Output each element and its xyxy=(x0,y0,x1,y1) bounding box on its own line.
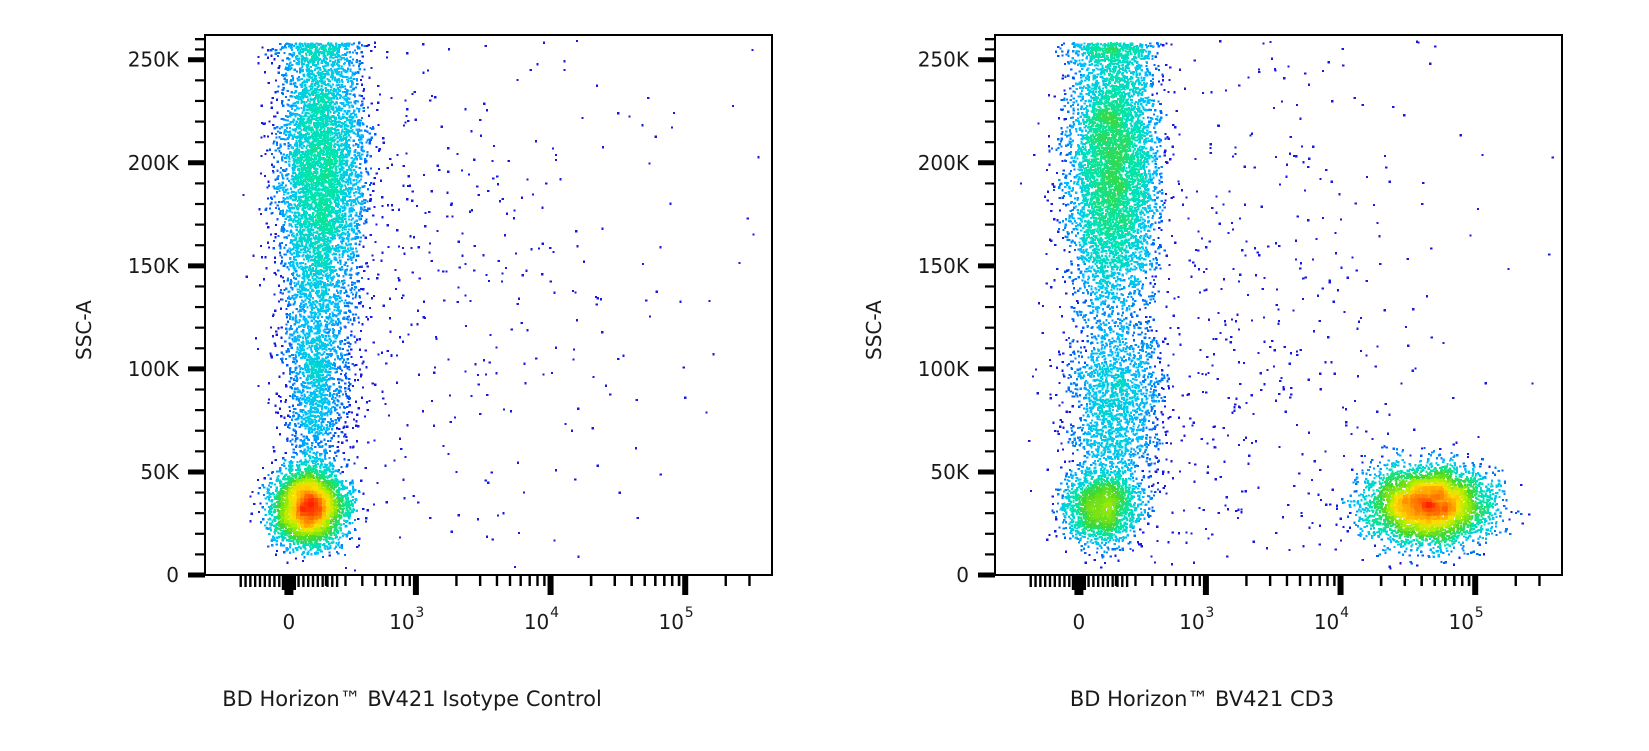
y-tick-label: 0 xyxy=(166,563,179,587)
x-axis: 0103104105 xyxy=(1031,575,1540,634)
x-tick-label: 10 xyxy=(524,610,549,634)
x-tick-label-exponent: 5 xyxy=(1475,605,1484,621)
x-tick-label-exponent: 4 xyxy=(550,605,559,621)
x-tick-label: 10 xyxy=(1448,610,1473,634)
x-tick-label: 10 xyxy=(1314,610,1339,634)
x-tick-label: 10 xyxy=(389,610,414,634)
y-axis: 050K100K150K200K250K xyxy=(918,39,995,587)
plot-panel-cd3: 050K100K150K200K250K0103104105 SSC-A BD … xyxy=(790,0,1614,751)
y-tick-label: 250K xyxy=(128,48,180,72)
x-tick-label-exponent: 3 xyxy=(1205,605,1214,621)
y-tick-label: 150K xyxy=(128,254,180,278)
y-axis: 050K100K150K200K250K xyxy=(128,39,205,587)
x-tick-label: 10 xyxy=(1179,610,1204,634)
x-tick-label-exponent: 3 xyxy=(415,605,424,621)
x-tick-label: 10 xyxy=(658,610,683,634)
flow-cytometry-figure: 050K100K150K200K250K0103104105 SSC-A BD … xyxy=(0,0,1649,751)
x-axis-title-right: BD Horizon™ BV421 CD3 xyxy=(790,687,1614,711)
y-tick-label: 0 xyxy=(956,563,969,587)
plot-panel-isotype-control: 050K100K150K200K250K0103104105 SSC-A BD … xyxy=(0,0,824,751)
y-tick-label: 100K xyxy=(128,357,180,381)
y-tick-label: 100K xyxy=(918,357,970,381)
x-tick-label-exponent: 5 xyxy=(685,605,694,621)
x-tick-label: 0 xyxy=(1073,610,1086,634)
y-tick-label: 50K xyxy=(930,460,969,484)
y-tick-label: 150K xyxy=(918,254,970,278)
x-axis: 0103104105 xyxy=(241,575,750,634)
x-tick-label-exponent: 4 xyxy=(1340,605,1349,621)
y-axis-title-left: SSC-A xyxy=(72,300,96,360)
y-tick-label: 250K xyxy=(918,48,970,72)
x-axis-title-left: BD Horizon™ BV421 Isotype Control xyxy=(0,687,824,711)
y-tick-label: 50K xyxy=(140,460,179,484)
y-tick-label: 200K xyxy=(128,151,180,175)
scatter-plot-isotype-control: 050K100K150K200K250K0103104105 xyxy=(0,0,824,751)
x-tick-label: 0 xyxy=(283,610,296,634)
y-axis-title-right: SSC-A xyxy=(862,300,886,360)
y-tick-label: 200K xyxy=(918,151,970,175)
scatter-plot-cd3: 050K100K150K200K250K0103104105 xyxy=(790,0,1614,751)
